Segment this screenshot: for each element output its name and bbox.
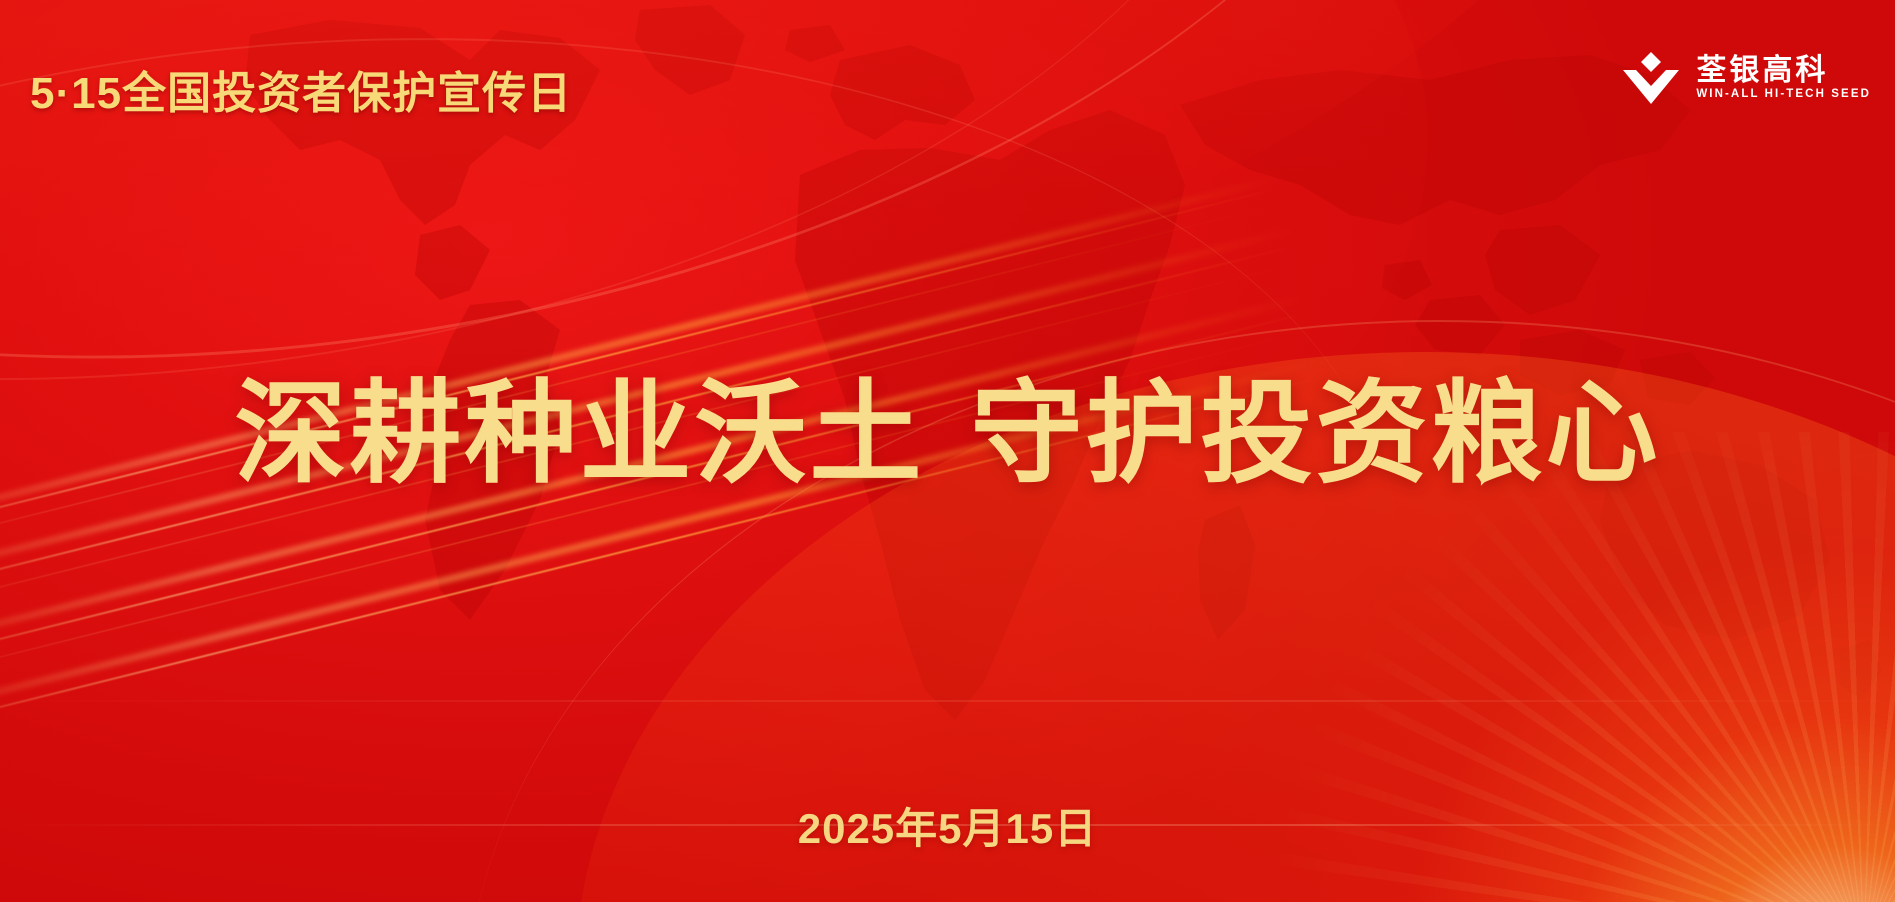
event-date: 2025年5月15日 — [0, 795, 1895, 856]
brand-name-en: WIN-ALL HI-TECH SEED — [1696, 89, 1871, 101]
investor-protection-banner: 5·15全国投资者保护宣传日 荃银高科 WIN-ALL HI-TECH SEED… — [0, 0, 1895, 902]
campaign-kicker: 5·15全国投资者保护宣传日 — [30, 57, 572, 121]
brand-text-block: 荃银高科 WIN-ALL HI-TECH SEED — [1696, 56, 1871, 101]
chevron-diamond-logo-icon — [1620, 50, 1682, 106]
headline-part-right: 守护投资粮心 — [971, 371, 1661, 496]
brand-name-cn: 荃银高科 — [1696, 56, 1871, 86]
main-headline: 深耕种业沃土守护投资粮心 — [0, 368, 1895, 500]
company-logo: 荃银高科 WIN-ALL HI-TECH SEED — [1620, 50, 1871, 106]
headline-part-left: 深耕种业沃土 — [235, 371, 925, 496]
banner-content: 5·15全国投资者保护宣传日 荃银高科 WIN-ALL HI-TECH SEED… — [0, 0, 1895, 902]
